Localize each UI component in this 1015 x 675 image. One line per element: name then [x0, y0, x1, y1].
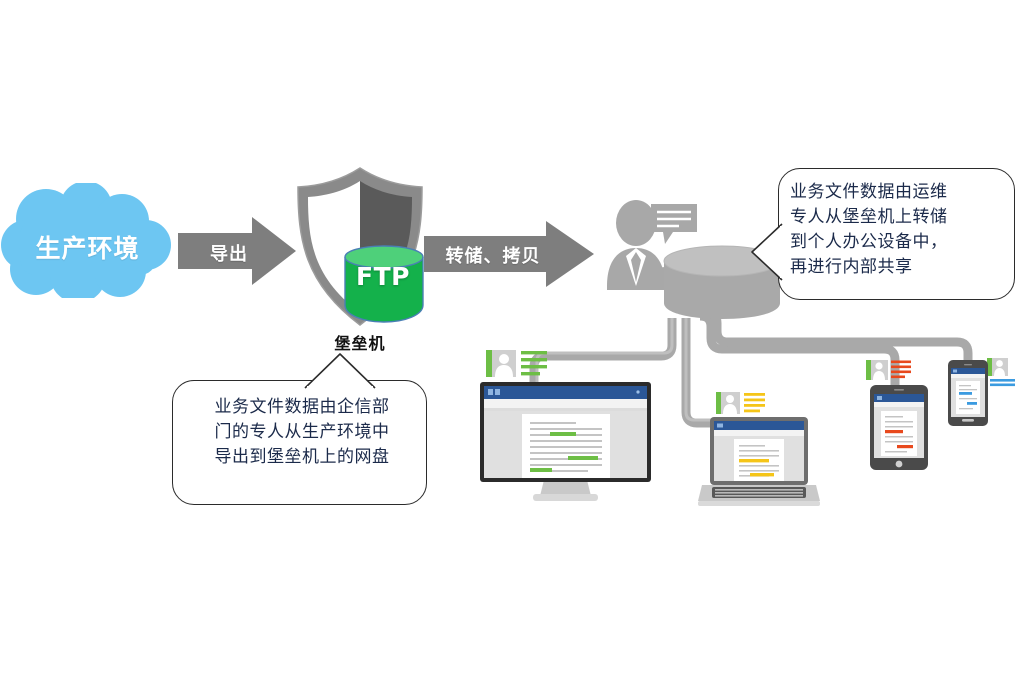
speech-bubble-icon — [651, 204, 697, 244]
cable-network — [0, 0, 1015, 675]
export-arrow: 导出 — [178, 215, 296, 287]
id-card-phone — [987, 358, 1015, 388]
transfer-copy-arrow: 转储、拷贝 — [424, 220, 594, 288]
cloud-label: 生产环境 — [0, 229, 175, 265]
id-card-tablet — [866, 360, 912, 387]
callout-right-text: 业务文件数据由运维 专人从堡垒机上转储 到个人办公设备中， 再进行内部共享 — [790, 180, 1008, 280]
callout-left-text: 业务文件数据由企信部 门的专人从生产环境中 导出到堡垒机上的网盘 — [186, 395, 418, 470]
ftp-label: FTP — [347, 262, 419, 291]
diagram-canvas: 生产环境 导出 FTP 堡垒机 转储、拷贝 — [0, 0, 1015, 675]
desktop-monitor — [478, 380, 653, 505]
export-arrow-label: 导出 — [188, 240, 270, 266]
tablet — [870, 385, 928, 470]
production-environment-cloud: 生产环境 — [0, 183, 175, 298]
transfer-copy-arrow-label: 转储、拷贝 — [432, 242, 554, 268]
laptop — [698, 415, 820, 510]
smartphone — [948, 360, 988, 426]
callout-left-tail — [295, 350, 385, 390]
callout-right-tail — [748, 218, 788, 288]
